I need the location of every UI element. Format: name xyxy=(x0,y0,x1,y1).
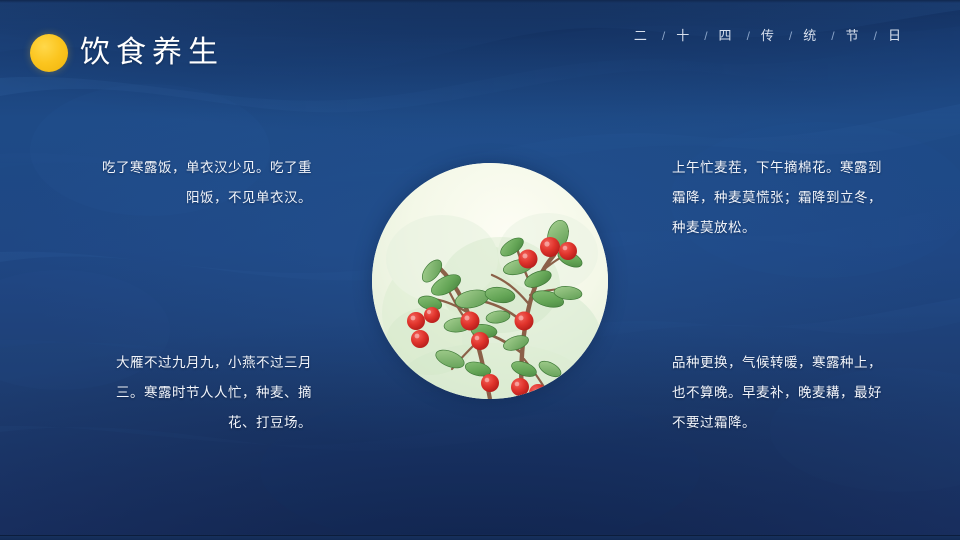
nav-item-4[interactable]: 统 xyxy=(803,26,817,46)
proverb-bottom-right: 品种更换，气候转暖，寒露种上，也不算晚。早麦补，晚麦耩，最好不要过霜降。 xyxy=(672,348,894,438)
berry-branch-illustration xyxy=(372,163,608,399)
nav-separator-4: / xyxy=(831,26,834,46)
nav-separator-5: / xyxy=(874,26,877,46)
nav-item-0[interactable]: 二 xyxy=(634,26,648,46)
proverb-bottom-left: 大雁不过九月九，小燕不过三月三。寒露时节人人忙，种麦、摘花、打豆场。 xyxy=(90,348,312,438)
nav-separator-0: / xyxy=(662,26,665,46)
slide-root: 饮食养生 二 / 十 / 四 / 传 / 统 / 节 / 日 xyxy=(0,0,960,540)
proverb-top-left: 吃了寒露饭，单衣汉少见。吃了重阳饭，不见单衣汉。 xyxy=(90,153,312,213)
nav-item-3[interactable]: 传 xyxy=(761,26,775,46)
nav-item-5[interactable]: 节 xyxy=(846,26,860,46)
proverb-top-right: 上午忙麦茬，下午摘棉花。寒露到霜降，种麦莫慌张；霜降到立冬，种麦莫放松。 xyxy=(672,153,894,243)
page-title: 饮食养生 xyxy=(80,33,224,73)
bottom-divider-line xyxy=(0,535,960,536)
top-navigation[interactable]: 二 / 十 / 四 / 传 / 统 / 节 / 日 xyxy=(634,26,902,46)
nav-item-1[interactable]: 十 xyxy=(676,26,690,46)
nav-separator-3: / xyxy=(789,26,792,46)
sun-dot-icon xyxy=(30,34,68,72)
nav-separator-2: / xyxy=(747,26,750,46)
berry-branch-artwork xyxy=(372,163,608,399)
nav-separator-1: / xyxy=(704,26,707,46)
header: 饮食养生 二 / 十 / 四 / 传 / 统 / 节 / 日 xyxy=(0,0,960,100)
nav-item-2[interactable]: 四 xyxy=(719,26,733,46)
nav-item-6[interactable]: 日 xyxy=(888,26,902,46)
